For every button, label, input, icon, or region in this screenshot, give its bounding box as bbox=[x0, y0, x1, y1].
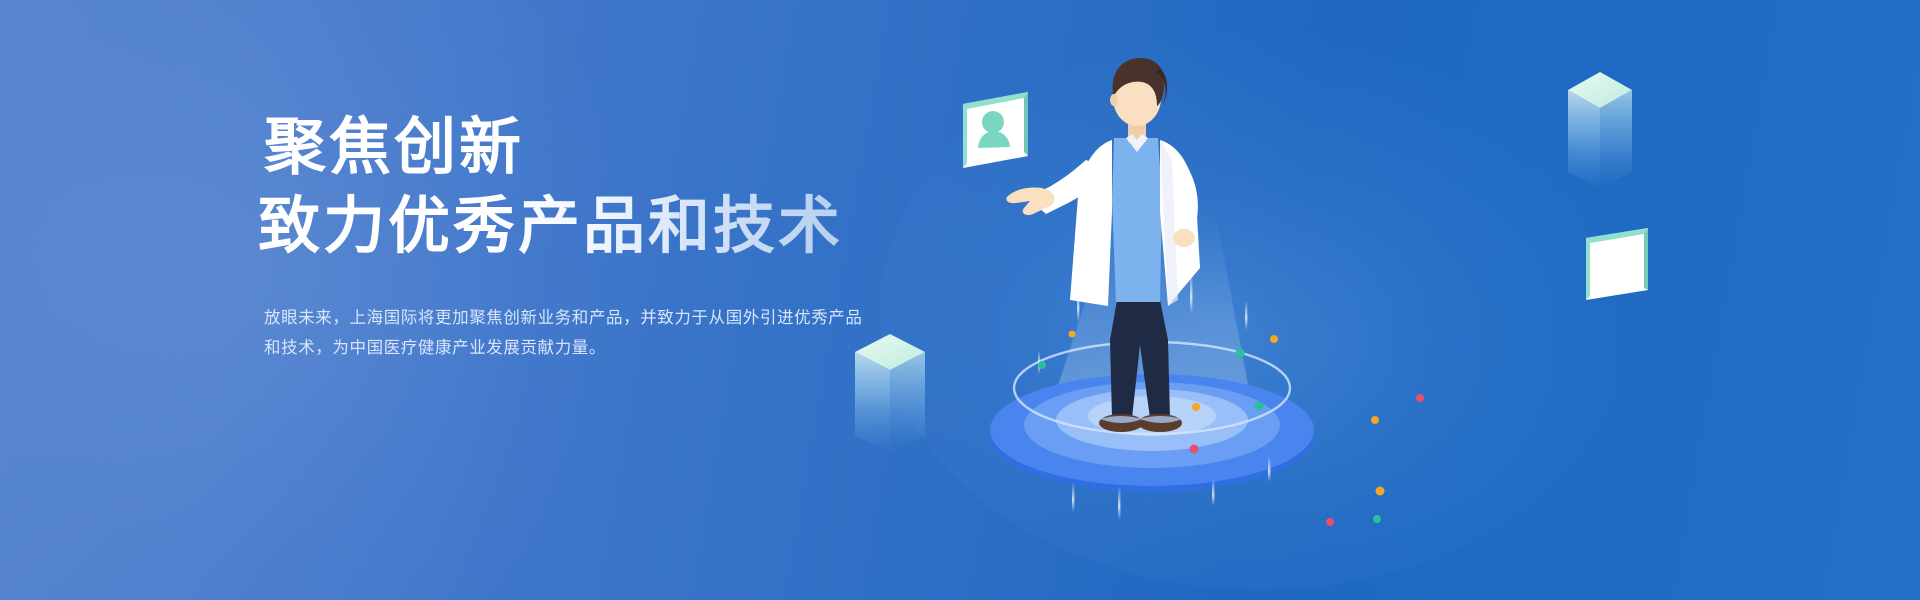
banner-hero: 聚焦创新 致力优秀产品和技术 放眼未来，上海国际将更加聚焦创新业务和产品，并致力… bbox=[0, 0, 1920, 600]
background-glow-center bbox=[880, 30, 1640, 590]
hero-text-block: 聚焦创新 致力优秀产品和技术 放眼未来，上海国际将更加聚焦创新业务和产品，并致力… bbox=[258, 108, 898, 364]
sparkle-streaks bbox=[1038, 272, 1270, 520]
headline-line-1: 聚焦创新 bbox=[264, 108, 898, 187]
subtitle-line-1: 放眼未来，上海国际将更加聚焦创新业务和产品，并致力于从国外引进优秀产品 bbox=[264, 303, 864, 334]
user-avatar-card-icon bbox=[963, 92, 1028, 168]
circular-hologram-platform-icon bbox=[984, 342, 1320, 494]
subtitle-line-2: 和技术，为中国医疗健康产业发展贡献力量。 bbox=[264, 333, 864, 364]
floating-dots bbox=[1038, 331, 1424, 527]
tall-3d-block-icon bbox=[1568, 72, 1632, 188]
headline-line-2: 致力优秀产品和技术 bbox=[258, 187, 898, 266]
small-floating-card-icon bbox=[1586, 228, 1648, 300]
hologram-light-cone bbox=[1055, 210, 1250, 395]
doctor-figure-icon bbox=[1006, 58, 1200, 432]
hero-subtitle: 放眼未来，上海国际将更加聚焦创新业务和产品，并致力于从国外引进优秀产品 和技术，… bbox=[264, 303, 864, 364]
